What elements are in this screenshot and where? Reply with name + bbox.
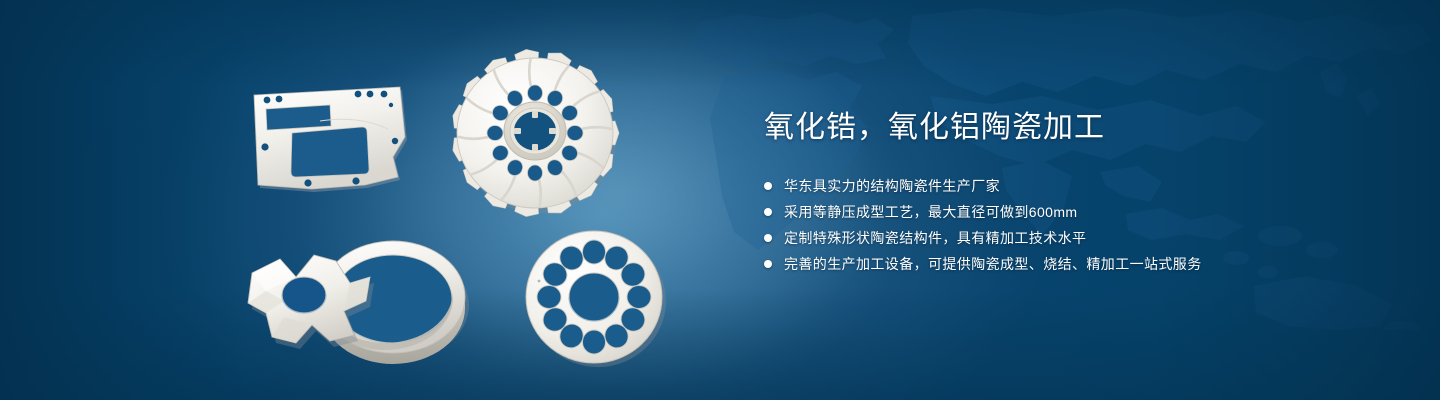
ceramic-products-image: [230, 40, 710, 380]
ceramic-mounting-plate: [250, 85, 420, 200]
ceramic-cross-part-and-ring: [235, 225, 505, 365]
feature-label: 完善的生产加工设备，可提供陶瓷成型、烧结、精加工一站式服务: [784, 252, 1202, 276]
banner-copy: 氧化锆，氧化铝陶瓷加工 华东具实力的结构陶瓷件生产厂家 采用等静压成型工艺，最大…: [764, 108, 1394, 278]
feature-item: 采用等静压成型工艺，最大直径可做到600mm: [764, 200, 1394, 224]
feature-label: 采用等静压成型工艺，最大直径可做到600mm: [784, 200, 1077, 224]
banner-headline: 氧化锆，氧化铝陶瓷加工: [764, 108, 1394, 148]
ceramic-perforated-ring-disc: [520, 225, 670, 370]
bullet-dot-icon: [764, 260, 772, 268]
feature-item: 华东具实力的结构陶瓷件生产厂家: [764, 174, 1394, 198]
banner-feature-list: 华东具实力的结构陶瓷件生产厂家 采用等静压成型工艺，最大直径可做到600mm 定…: [764, 174, 1394, 276]
feature-label: 定制特殊形状陶瓷结构件，具有精加工技术水平: [784, 226, 1086, 250]
hero-banner: 氧化锆，氧化铝陶瓷加工 华东具实力的结构陶瓷件生产厂家 采用等静压成型工艺，最大…: [0, 0, 1440, 400]
feature-label: 华东具实力的结构陶瓷件生产厂家: [784, 174, 1000, 198]
bullet-dot-icon: [764, 234, 772, 242]
feature-item: 定制特殊形状陶瓷结构件，具有精加工技术水平: [764, 226, 1394, 250]
bullet-dot-icon: [764, 208, 772, 216]
ceramic-impeller-disc: [445, 45, 625, 220]
feature-item: 完善的生产加工设备，可提供陶瓷成型、烧结、精加工一站式服务: [764, 252, 1394, 276]
bullet-dot-icon: [764, 182, 772, 190]
